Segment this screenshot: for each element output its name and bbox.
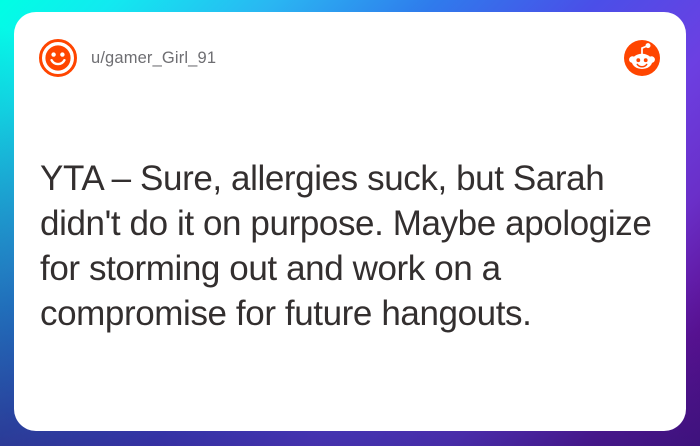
post-card: u/gamer_Girl_91 YTA – Sure, all: [14, 12, 686, 431]
username-label: u/gamer_Girl_91: [91, 49, 216, 68]
user-identity-block[interactable]: u/gamer_Girl_91: [38, 38, 216, 78]
reddit-snoo-icon[interactable]: [624, 40, 660, 76]
post-header: u/gamer_Girl_91: [14, 12, 686, 104]
post-body-text: YTA – Sure, allergies suck, but Sarah di…: [40, 156, 660, 336]
smiley-face-avatar-icon[interactable]: [38, 38, 78, 78]
